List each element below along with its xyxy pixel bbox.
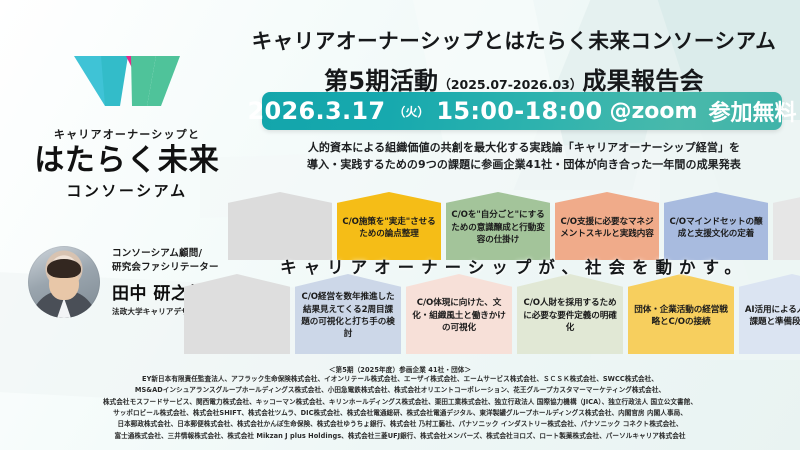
consortium-logo: キャリアオーナーシップと はたらく未来 コンソーシアム xyxy=(22,50,232,201)
participants-line: 富士通株式会社、三井情報株式会社、株式会社 Mikzan J plus Hold… xyxy=(0,431,800,442)
topic-card: C/Oマインドセットの醸成と支援文化の定着 xyxy=(664,192,768,260)
topic-card-partial xyxy=(184,274,290,354)
header-block: キャリアオーナーシップとはたらく未来コンソーシアム 第5期活動（2025.07-… xyxy=(240,24,788,96)
participants-line: サッポロビール株式会社、株式会社SHIFT、株式会社ツムラ、DIC株式会社、株式… xyxy=(0,408,800,419)
logo-name-main: はたらく未来 xyxy=(22,145,232,177)
topic-card-label: AI活用による人事の変革課題と準備段階の整備 xyxy=(744,304,800,329)
participants-line: EY新日本有限責任監査法人、アフラック生命保険株式会社、イオンリテール株式会社、… xyxy=(0,374,800,385)
topic-card-label: C/O人財を採用するために必要な要件定義の明確化 xyxy=(522,297,618,334)
topics-row-top: C/O施策を"実走"させるための論点整理C/Oを"自分ごと"にするための意識醸成… xyxy=(228,192,800,260)
topic-card-label: C/O支援に必要なマネジメントスキルと実践内容 xyxy=(560,216,654,241)
event-date: 2026.3.17 xyxy=(248,97,386,125)
topics-row-bottom: C/O経営を数年推進した結果見えてくる2周目課題の可視化と打ち手の検討C/O体現… xyxy=(184,274,800,354)
topic-card-label: C/O施策を"実走"させるための論点整理 xyxy=(342,216,436,241)
participants-line: MS&ADインシュアランスグループホールディングス株式会社、小田急電鉄株式会社、… xyxy=(0,385,800,396)
logo-tagline: キャリアオーナーシップと xyxy=(22,126,232,142)
topic-card: C/O支援に必要なマネジメントスキルと実践内容 xyxy=(555,192,659,260)
event-time: 15:00-18:00 xyxy=(436,97,602,125)
participants-line: 株式会社モスフードサービス、関西電力株式会社、キッコーマン株式会社、キリンホール… xyxy=(0,397,800,408)
avatar-hair xyxy=(47,259,81,278)
event-description: 人的資本による組織価値の共創を最大化する実践論「キャリアオーナーシップ経営」を … xyxy=(262,139,786,173)
topic-card: C/O施策を"実走"させるための論点整理 xyxy=(337,192,441,260)
w-logo-mark xyxy=(72,50,182,112)
topic-card-label: C/O体現に向けた、文化・組織風土と働きかけの可視化 xyxy=(411,297,507,334)
event-day-of-week: （火） xyxy=(393,103,429,120)
page-subtitle: 第5期活動（2025.07-2026.03）成果報告会 xyxy=(240,61,788,96)
topic-card-partial xyxy=(773,192,800,260)
event-fee-badge: 参加無料 xyxy=(708,95,796,127)
speaker-avatar xyxy=(28,246,100,318)
topic-card-label: 団体・企業活動の経営戦略とC/Oの接続 xyxy=(633,304,729,329)
topic-card: C/O経営を数年推進した結果見えてくる2周目課題の可視化と打ち手の検討 xyxy=(295,274,401,354)
participants-list: EY新日本有限責任監査法人、アフラック生命保険株式会社、イオンリテール株式会社、… xyxy=(0,374,800,442)
topic-card: AI活用による人事の変革課題と準備段階の整備 xyxy=(739,274,800,354)
page-title: キャリアオーナーシップとはたらく未来コンソーシアム xyxy=(240,24,788,54)
subtitle-suffix: 成果報告会 xyxy=(582,67,704,95)
participant-companies: ＜第5期（2025年度）参画企業 41社・団体＞ EY新日本有限責任監査法人、ア… xyxy=(0,364,800,442)
logo-name-sub: コンソーシアム xyxy=(22,180,232,201)
description-line-2: 導入・実践するための9つの課題に参画企業41社・団体が向き合った一年間の成果発表 xyxy=(262,156,786,173)
event-poster: キャリアオーナーシップと はたらく未来 コンソーシアム コンソーシアム顧問/ 研… xyxy=(0,0,800,450)
topic-card: C/Oを"自分ごと"にするための意識醸成と行動変容の仕掛け xyxy=(446,192,550,260)
participants-line: 日本郵政株式会社、日本郵便株式会社、株式会社かんぽ生命保険、株式会社ゆうちょ銀行… xyxy=(0,419,800,430)
topic-card-label: C/Oマインドセットの醸成と支援文化の定着 xyxy=(669,216,763,241)
subtitle-prefix: 第5期活動 xyxy=(324,67,438,95)
topic-card-label: C/Oを"自分ごと"にするための意識醸成と行動変容の仕掛け xyxy=(451,209,545,246)
topic-card: 団体・企業活動の経営戦略とC/Oの接続 xyxy=(628,274,734,354)
event-place: @zoom xyxy=(609,99,697,124)
description-line-1: 人的資本による組織価値の共創を最大化する実践論「キャリアオーナーシップ経営」を xyxy=(262,139,786,156)
date-time-banner: 2026.3.17 （火） 15:00-18:00 @zoom 参加無料 xyxy=(262,92,782,130)
participants-heading: ＜第5期（2025年度）参画企業 41社・団体＞ xyxy=(0,364,800,374)
topic-card: C/O人財を採用するために必要な要件定義の明確化 xyxy=(517,274,623,354)
topic-card-label: C/O経営を数年推進した結果見えてくる2周目課題の可視化と打ち手の検討 xyxy=(300,291,396,341)
topic-card-partial xyxy=(228,192,332,260)
topic-card: C/O体現に向けた、文化・組織風土と働きかけの可視化 xyxy=(406,274,512,354)
subtitle-period: （2025.07-2026.03） xyxy=(438,77,582,92)
tagline: キャリアオーナーシップが、社会を動かす。 xyxy=(236,254,792,278)
